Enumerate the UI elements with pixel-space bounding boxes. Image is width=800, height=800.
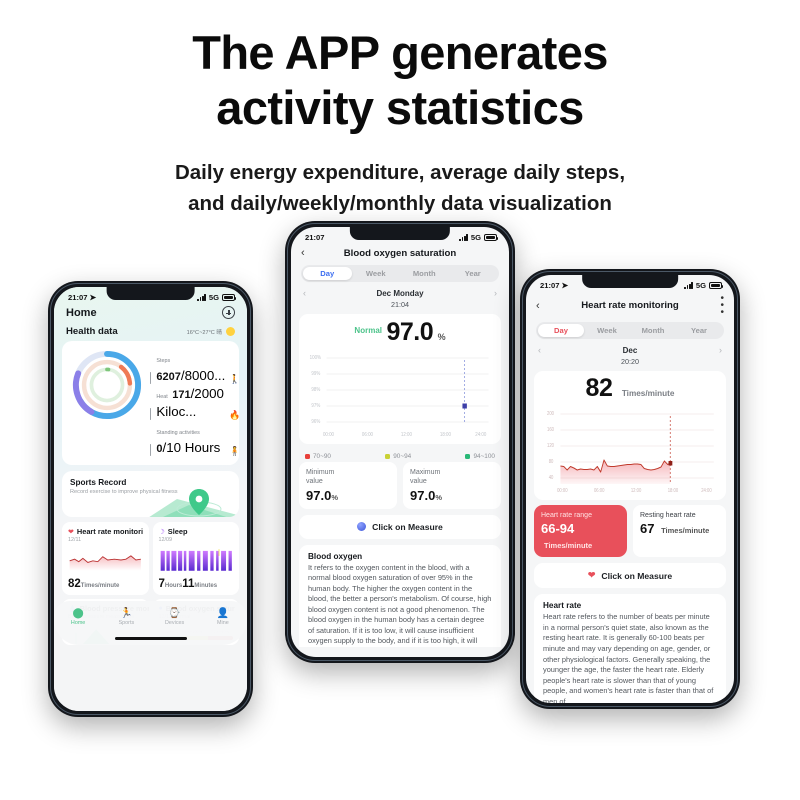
legend-item: 90~94 <box>385 453 411 460</box>
card-title: Sleep <box>168 527 188 536</box>
svg-text:200: 200 <box>547 411 554 416</box>
measure-label: Click on Measure <box>601 571 672 581</box>
metric-label: Heat <box>156 394 167 400</box>
date-label: Dec <box>623 346 638 355</box>
svg-text:120: 120 <box>547 443 554 448</box>
svg-text:100%: 100% <box>310 355 322 361</box>
signal-icon <box>459 234 467 241</box>
tab-label: Devices <box>151 620 199 626</box>
home-header: Home <box>54 304 247 323</box>
notch <box>582 275 678 288</box>
tab-week[interactable]: Week <box>584 324 630 337</box>
page-subtitle-line2: and daily/weekly/monthly data visualizat… <box>0 188 800 219</box>
date-next-icon[interactable]: › <box>719 345 722 355</box>
heart-rate-screen: 21:07 ➤ 5G ‹ Heart rate monitoring ••• D… <box>526 275 734 703</box>
svg-text:98%: 98% <box>311 387 321 393</box>
minimum-value: 97.0% <box>306 488 390 503</box>
svg-text:96%: 96% <box>311 419 321 425</box>
phones-showcase: 21:07 ➤ 5G Home Health data 16°C~27°C 晴 <box>0 219 800 739</box>
battery-icon <box>222 294 235 301</box>
svg-text:99%: 99% <box>311 371 321 377</box>
heart-rate-sparkline <box>68 547 143 573</box>
maximum-value: 97.0% <box>410 488 494 503</box>
legend-swatch-icon <box>465 454 470 459</box>
tab-label: Sports <box>102 620 150 626</box>
svg-text:00:00: 00:00 <box>557 488 568 493</box>
standing-icon: 🧍 <box>229 446 239 457</box>
date-label: Dec Monday <box>376 289 423 298</box>
svg-text:160: 160 <box>547 427 554 432</box>
maximum-value-card: Maximumvalue 97.0% <box>403 462 501 508</box>
metric-standing: Standing activities 0/10 Hours 🧍 <box>150 421 239 457</box>
spo2-icon <box>357 522 366 531</box>
location-arrow-icon: ➤ <box>89 293 96 302</box>
more-vertical-icon[interactable]: ••• <box>710 295 724 316</box>
metric-label: Steps <box>156 358 170 364</box>
status-time: 21:07 <box>540 281 559 290</box>
activity-rings <box>70 348 144 422</box>
sports-icon: 🏃 <box>102 608 150 619</box>
screen-title: Heart rate monitoring <box>550 300 710 311</box>
heart-rate-summary-cards: Heart rate range 66-94 Times/minute Rest… <box>534 505 726 557</box>
page-subtitle-line1: Daily energy expenditure, average daily … <box>0 157 800 188</box>
weather-info: 16°C~27°C 晴 <box>187 327 235 336</box>
walking-icon: 🚶 <box>229 374 239 385</box>
tab-label: Home <box>54 620 102 626</box>
home-screen: 21:07 ➤ 5G Home Health data 16°C~27°C 晴 <box>54 287 247 711</box>
click-on-measure-button[interactable]: Click on Measure <box>299 515 501 539</box>
metric-bar-icon <box>150 372 151 384</box>
metric-value: 171 <box>172 389 190 401</box>
info-body: It refers to the oxygen content in the b… <box>308 563 492 647</box>
resting-heart-rate-card: Resting heart rate 67 Times/minute <box>633 505 726 557</box>
minimum-value-card: Minimumvalue 97.0% <box>299 462 397 508</box>
page-title-line1: The APP generates <box>192 26 608 79</box>
nav-bar: ‹ Blood oxygen saturation <box>291 244 509 265</box>
spo2-chart: 100%99%98% 97%96% 00:0006:0012:00 18:002… <box>307 350 493 442</box>
svg-text:00:00: 00:00 <box>323 432 334 438</box>
measure-label: Click on Measure <box>372 522 443 532</box>
notch <box>106 287 195 300</box>
card-value: 82Times/minute <box>68 578 143 590</box>
card-title: Heart rate monitori <box>77 527 143 536</box>
heart-rate-range-value: 66-94 Times/minute <box>541 521 620 551</box>
legend-item: 94~100 <box>465 453 495 460</box>
page-title: The APP generates activity statistics <box>0 26 800 135</box>
legend-swatch-icon <box>305 454 310 459</box>
heart-rate-chart: 200160120 8040 00:0006:0012:00 18:0024:0… <box>542 406 718 498</box>
signal-icon <box>684 282 692 289</box>
heart-rate-unit: Times/minute <box>622 389 675 398</box>
network-label: 5G <box>471 233 481 242</box>
svg-text:18:00: 18:00 <box>668 488 679 493</box>
spo2-value: 97.0 <box>386 318 433 346</box>
card-date: 12/11 <box>68 537 143 543</box>
card-unit: Hours <box>165 583 182 589</box>
click-on-measure-button[interactable]: ❤ Click on Measure <box>534 563 726 588</box>
card-unit2: Minutes <box>194 583 217 589</box>
svg-text:06:00: 06:00 <box>594 488 605 493</box>
period-segmented-control: Day Week Month Year <box>536 322 724 339</box>
info-body: Heart rate refers to the number of beats… <box>543 612 717 703</box>
heart-rate-range-card: Heart rate range 66-94 Times/minute <box>534 505 627 557</box>
tab-month[interactable]: Month <box>630 324 676 337</box>
resting-heart-rate-label: Resting heart rate <box>640 511 719 520</box>
blood-oxygen-screen: 21:07 5G ‹ Blood oxygen saturation Day W… <box>291 227 509 657</box>
map-pin-icon <box>137 483 239 517</box>
date-prev-icon[interactable]: ‹ <box>303 288 306 298</box>
tab-sports[interactable]: 🏃 Sports <box>102 608 150 626</box>
sleep-bar-chart <box>159 547 234 573</box>
date-selector: ‹ Dec › <box>526 339 734 356</box>
phone-home: 21:07 ➤ 5G Home Health data 16°C~27°C 晴 <box>48 281 253 717</box>
screen-title: Blood oxygen saturation <box>315 248 485 259</box>
page-title-line2: activity statistics <box>216 81 583 134</box>
date-next-icon[interactable]: › <box>494 288 497 298</box>
period-segmented-control: Day Week Month Year <box>301 265 499 282</box>
legend-label: 90~94 <box>393 453 411 460</box>
battery-icon <box>484 234 497 241</box>
tab-devices[interactable]: ⌚ Devices <box>151 608 199 626</box>
svg-text:06:00: 06:00 <box>362 432 373 438</box>
person-icon: 👤 <box>199 608 247 619</box>
hero-section: The APP generates activity statistics Da… <box>0 0 800 219</box>
card-heart-rate[interactable]: ❤ Heart rate monitori 12/11 82Times/minu… <box>62 522 149 595</box>
tab-month[interactable]: Month <box>400 267 449 280</box>
card-sleep[interactable]: ☽ Sleep 12/09 <box>153 522 240 595</box>
tab-home[interactable]: ⬤ Home <box>54 608 102 626</box>
metric-bar-icon <box>150 444 151 456</box>
weather-text: 16°C~27°C 晴 <box>187 328 222 336</box>
svg-text:18:00: 18:00 <box>440 432 451 438</box>
status-time: 21:07 <box>68 293 87 302</box>
blood-oxygen-info-card: Blood oxygen It refers to the oxygen con… <box>299 545 501 647</box>
tab-day[interactable]: Day <box>303 267 352 280</box>
metric-suffix: /2000 Kiloc... <box>156 386 224 419</box>
heart-rate-reading-card: 82 Times/minute 200160120 8040 00:000 <box>534 371 726 500</box>
tab-label: Mine <box>199 620 247 626</box>
sports-record-card[interactable]: Sports Record Record exercise to improve… <box>62 471 239 517</box>
metric-heat: Heat 171/2000 Kiloc... 🔥 <box>150 385 239 421</box>
home-indicator <box>115 637 187 640</box>
chevron-left-icon[interactable]: ‹ <box>301 247 315 259</box>
plus-icon[interactable] <box>222 306 235 319</box>
resting-heart-rate-value: 67 Times/minute <box>640 521 719 536</box>
heart-icon: ❤ <box>588 570 596 581</box>
network-label: 5G <box>696 281 706 290</box>
network-label: 5G <box>209 293 219 302</box>
metric-steps: Steps 6207/8000... 🚶 <box>150 349 239 385</box>
health-data-title: Health data <box>66 326 118 337</box>
svg-text:97%: 97% <box>311 403 321 409</box>
reading-time: 21:04 <box>291 300 509 309</box>
card-unit: Times/minute <box>81 583 120 589</box>
maximum-label: Maximumvalue <box>410 468 494 486</box>
moon-icon: ☽ <box>159 528 165 536</box>
heart-icon: ❤ <box>68 528 74 536</box>
spo2-reading: Normal 97.0 % <box>305 317 495 350</box>
svg-text:12:00: 12:00 <box>401 432 412 438</box>
legend-label: 94~100 <box>473 453 495 460</box>
min-max-cards: Minimumvalue 97.0% Maximumvalue 97.0% <box>299 462 501 508</box>
svg-text:24:00: 24:00 <box>475 432 486 438</box>
legend-item: 70~90 <box>305 453 331 460</box>
spo2-unit: % <box>438 332 446 342</box>
heart-rate-info-card: Heart rate Heart rate refers to the numb… <box>534 594 726 703</box>
spo2-legend: 70~90 90~94 94~100 <box>291 449 509 462</box>
svg-text:40: 40 <box>549 475 554 480</box>
svg-text:12:00: 12:00 <box>631 488 642 493</box>
card-date: 12/09 <box>159 537 234 543</box>
nav-bar: ‹ Heart rate monitoring ••• <box>526 292 734 322</box>
legend-swatch-icon <box>385 454 390 459</box>
home-icon: ⬤ <box>54 608 102 619</box>
phone-heart-rate: 21:07 ➤ 5G ‹ Heart rate monitoring ••• D… <box>520 269 740 709</box>
heart-rate-range-label: Heart rate range <box>541 511 620 520</box>
metric-label: Standing activities <box>156 430 199 436</box>
phone-blood-oxygen: 21:07 5G ‹ Blood oxygen saturation Day W… <box>285 221 515 663</box>
notch <box>350 227 450 240</box>
metric-bar-icon <box>150 408 151 420</box>
date-prev-icon[interactable]: ‹ <box>538 345 541 355</box>
info-title: Heart rate <box>543 601 717 610</box>
device-icon: ⌚ <box>151 608 199 619</box>
spo2-status: Normal <box>354 326 382 335</box>
heart-rate-value: 82 <box>586 374 613 402</box>
reading-time: 20:20 <box>526 357 734 366</box>
location-arrow-icon: ➤ <box>561 281 568 290</box>
tab-week[interactable]: Week <box>352 267 401 280</box>
svg-text:80: 80 <box>549 459 554 464</box>
battery-icon <box>709 282 722 289</box>
metric-value: 6207 <box>156 371 180 383</box>
tab-mine[interactable]: 👤 Mine <box>199 608 247 626</box>
health-rings-card[interactable]: Steps 6207/8000... 🚶 Heat 171/2000 Kiloc… <box>62 341 239 465</box>
metric-suffix: /8000... <box>181 368 225 383</box>
tab-day[interactable]: Day <box>538 324 584 337</box>
tab-year[interactable]: Year <box>676 324 722 337</box>
heart-rate-reading: 82 Times/minute <box>540 373 720 406</box>
chevron-left-icon[interactable]: ‹ <box>536 300 550 312</box>
card-value: 7Hours11Minutes <box>159 578 234 590</box>
page-subtitle: Daily energy expenditure, average daily … <box>0 157 800 219</box>
info-title: Blood oxygen <box>308 552 492 561</box>
status-time: 21:07 <box>305 233 324 242</box>
signal-icon <box>197 294 205 301</box>
flame-icon: 🔥 <box>229 410 239 421</box>
minimum-label: Minimumvalue <box>306 468 390 486</box>
date-selector: ‹ Dec Monday › <box>291 282 509 299</box>
metric-suffix: /10 Hours <box>163 440 221 455</box>
sun-icon <box>226 327 235 336</box>
svg-text:24:00: 24:00 <box>701 488 712 493</box>
legend-label: 70~90 <box>313 453 331 460</box>
tab-year[interactable]: Year <box>449 267 498 280</box>
health-data-header: Health data 16°C~27°C 晴 <box>54 323 247 341</box>
home-title: Home <box>66 307 97 319</box>
spo2-reading-card: Normal 97.0 % 100%99%98% 97%96% 00:0006:… <box>299 314 501 444</box>
